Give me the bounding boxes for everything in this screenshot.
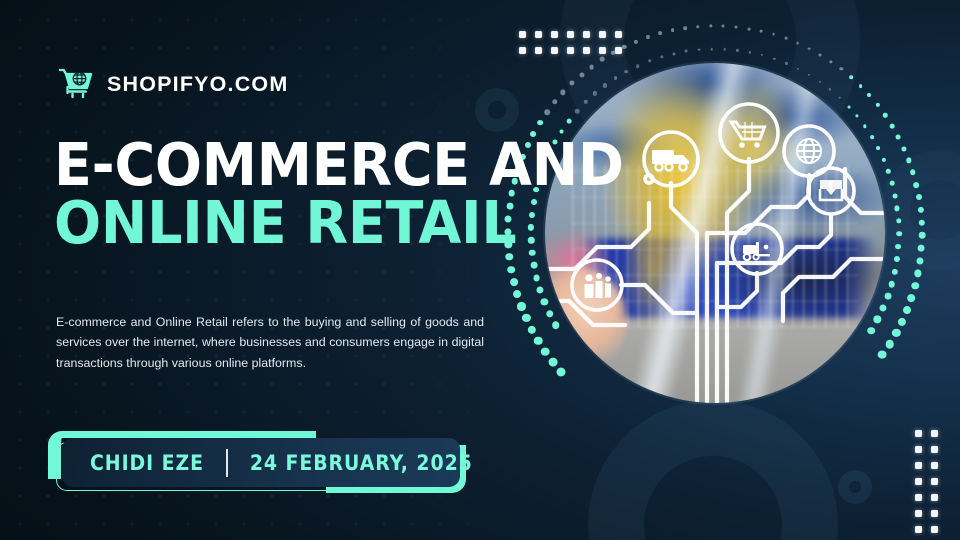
byline-badge: CHIDI EZE 24 FEBRUARY, 2025 <box>48 431 466 493</box>
publish-date: 24 FEBRUARY, 2025 <box>250 451 473 475</box>
circuit-overlay <box>545 63 885 403</box>
badge-divider <box>226 449 228 477</box>
author-name: CHIDI EZE <box>90 451 204 475</box>
description-paragraph: E-commerce and Online Retail refers to t… <box>56 312 484 372</box>
brand-name: SHOPIFYO.COM <box>107 72 288 97</box>
decorative-donut-bottom-right <box>838 470 872 504</box>
shopping-cart-icon <box>720 104 778 162</box>
badge-plate: CHIDI EZE 24 FEBRUARY, 2025 <box>62 438 460 487</box>
presentation-slide: SHOPIFYO.COM E-COMMERCE AND ONLINE RETAI… <box>0 0 960 540</box>
hero-photo-circle <box>545 63 885 403</box>
title-line-1: E-COMMERCE AND <box>54 136 545 194</box>
page-title: E-COMMERCE AND ONLINE RETAIL <box>54 136 524 251</box>
shopping-cart-globe-icon <box>56 64 96 104</box>
brand-logo[interactable]: SHOPIFYO.COM <box>56 64 288 104</box>
title-line-2: ONLINE RETAIL <box>54 194 545 252</box>
trace-node <box>645 175 653 183</box>
